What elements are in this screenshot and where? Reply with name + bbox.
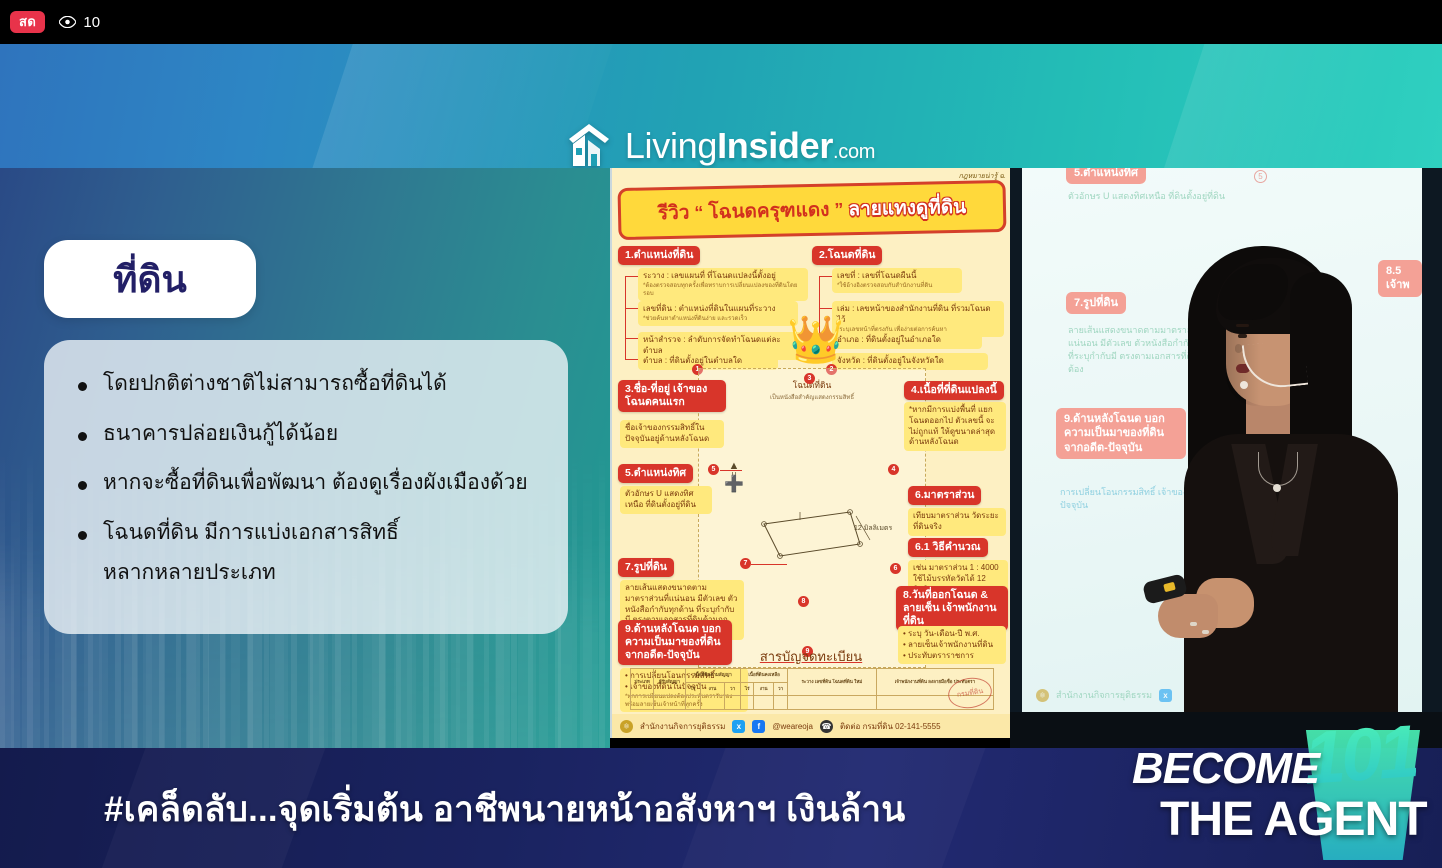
banner-headline: #เคล็ดลับ...จุดเริ่มต้น อาชีพนายหน้าอสัง… <box>104 782 905 837</box>
connector-line <box>626 359 638 360</box>
presenter-hand-left <box>1158 594 1218 638</box>
video-stage: ที่ดิน โดยปกติต่างชาติไม่สามารถซื้อที่ดิ… <box>0 168 1442 748</box>
connector-line <box>820 276 832 277</box>
table-subheader-cell: ไร่ <box>741 682 754 696</box>
poster-footer: ⚛ สำนักงานกิจการยุติธรรม x f @weareoja ☎… <box>612 714 1010 738</box>
poster-section-7-head: 7.รูปที่ดิน <box>618 558 674 577</box>
poster-title-post: ลายแทงดูที่ดิน <box>848 192 966 224</box>
poster-section-1-item-1: เลขที่ดิน : ตำแหน่งที่ดินในแผนที่ระวาง *… <box>638 301 798 326</box>
registry-title-text: สารบัญจดทะเบียน <box>760 649 862 664</box>
presenter-pendant <box>1273 484 1281 492</box>
projection-section-5-head: 5.ตำแหน่งทิศ <box>1066 168 1146 184</box>
table-header-cell: ระวาง เลขที่ดิน โฉนดที่ดิน ใหม่ <box>787 669 876 696</box>
poster-section-8-head: 8.วันที่ออกโฉนด & ลายเซ็น เจ้าพนักงานที่… <box>896 586 1008 631</box>
viewer-count-value: 10 <box>83 14 100 31</box>
brand-wordmark: LivingInsider.com <box>625 125 875 167</box>
poster-title-pre: รีวิว <box>658 198 690 229</box>
projection-section-5-body: ตัวอักษร U แสดงทิศเหนือ ที่ดินตั้งอยู่ที… <box>1068 190 1225 203</box>
oja-seal-icon: ⚛ <box>620 720 633 733</box>
presenter-ring <box>1202 630 1209 634</box>
presenter-ring <box>1190 622 1197 626</box>
bullet-dot-icon <box>78 432 87 441</box>
bullet-text: หากจะซื้อที่ดินเพื่อพัฒนา ต้องดูเรื่องผั… <box>103 469 528 497</box>
item-note: *ใช้อ้างอิงตรวจสอบกับสำนักงานที่ดิน <box>837 282 957 290</box>
list-item: หากจะซื้อที่ดินเพื่อพัฒนา ต้องดูเรื่องผั… <box>78 469 534 497</box>
poster-section-2-item-0: เลขที่ : เลขที่โฉนดผืนนี้ *ใช้อ้างอิงตรว… <box>832 268 962 293</box>
brand-living: Living <box>625 125 717 166</box>
table-header-cell: ประเภท <box>631 669 654 696</box>
live-status-bar: สด 10 <box>0 0 1442 44</box>
projection-marker-5: 5 <box>1254 170 1267 183</box>
connector-line <box>626 338 638 339</box>
table-subheader-cell: งาน <box>701 682 725 696</box>
poster-footer-org: สำนักงานกิจการยุติธรรม <box>640 720 725 733</box>
item-text: ระวาง : เลขแผนที่ ที่โฉนดแปลงนี้ตั้งอยู่ <box>643 271 776 280</box>
table-cell <box>774 696 788 710</box>
quote-close: ” <box>834 199 843 220</box>
livestream-screen: สด 10 LivingInsider.com <box>0 0 1442 868</box>
table-header-cell: เนื้อที่ดินตามสัญญา <box>685 669 741 683</box>
bullet-dot-icon <box>78 382 87 391</box>
marker-6-1: 6 <box>890 563 901 574</box>
poster-footer-handle: @weareoja <box>772 722 813 731</box>
infographic-poster: กฎหมายน่ารู้ ฉ. รีวิว “ โฉนดครุฑแดง ” ลา… <box>610 168 1010 738</box>
table-subheader-cell: ไร่ <box>685 682 700 696</box>
page-title: ที่ดิน <box>113 261 187 298</box>
marker-7: 7 <box>740 558 751 569</box>
projection-section-7-head: 7.รูปที่ดิน <box>1066 292 1126 314</box>
projection-footer-org: สำนักงานกิจการยุติธรรม <box>1056 688 1152 702</box>
marker-8: 8 <box>798 596 809 607</box>
bullet-text: โฉนดที่ดิน มีการแบ่งเอกสารสิทธิ์ <box>103 519 399 547</box>
house-logo-icon <box>567 122 611 168</box>
table-subheader-cell: งาน <box>754 682 774 696</box>
bullet-text: ธนาคารปล่อยเงินกู้ได้น้อย <box>103 420 338 448</box>
facebook-icon: f <box>752 720 765 733</box>
list-item: โดยปกติต่างชาติไม่สามารถซื้อที่ดินได้ <box>78 370 534 398</box>
presenter-speaker <box>1140 238 1440 748</box>
compass-indicator: ▲ U ➕ <box>722 460 746 516</box>
brand-tld: .com <box>833 141 875 163</box>
item-text: ตำบล : ที่ดินตั้งอยู่ในตำบลใด <box>643 356 742 365</box>
connector-line <box>626 276 638 277</box>
bullet-text-continuation: หลากหลายประเภท <box>103 559 534 587</box>
plot-dimension-label: 12 มิลลิเมตร <box>854 523 892 534</box>
table-cell <box>654 696 685 710</box>
item-text: เลขที่ดิน : ตำแหน่งที่ดินในแผนที่ระวาง <box>643 304 776 313</box>
item-text: อำเภอ : ที่ดินตั้งอยู่ในอำเภอใด <box>837 335 941 344</box>
poster-section-1-head: 1.ตำแหน่งที่ดิน <box>618 246 700 265</box>
bullet-dot-icon <box>78 481 87 490</box>
item-text: หน้าสำรวจ : ลำดับการจัดทำโฉนดแต่ละตำบล <box>643 335 781 355</box>
poster-section-2-item-2: อำเภอ : ที่ดินตั้งอยู่ในอำเภอใด <box>832 332 982 349</box>
connector-line-vertical <box>625 276 626 360</box>
garuda-emblem-icon: 👑 <box>787 316 839 374</box>
brand-logo: LivingInsider.com <box>0 122 1442 168</box>
poster-section-5-head: 5.ตำแหน่งทิศ <box>618 464 693 483</box>
table-header-row: ประเภท ผู้รับสัญญา เนื้อที่ดินตามสัญญา เ… <box>631 669 994 683</box>
table-cell <box>724 696 740 710</box>
table-cell <box>787 696 876 710</box>
phone-icon: ☎ <box>820 720 833 733</box>
poster-footer-contact: ติดต่อ กรมที่ดิน 02-141-5555 <box>840 720 941 733</box>
viewer-count: 10 <box>59 14 100 31</box>
table-header-cell: เนื้อที่ดินคงเหลือ <box>741 669 788 683</box>
table-cell <box>701 696 725 710</box>
poster-section-3-body: ชื่อเจ้าของกรรมสิทธิ์ใน ปัจจุบันอยู่ด้าน… <box>620 420 724 448</box>
item-note: *ต้องตรวจสอบทุกครั้งเพื่อทราบการเปลี่ยนแ… <box>643 282 803 298</box>
eye-icon <box>59 16 76 28</box>
poster-title-banner: รีวิว “ โฉนดครุฑแดง ” ลายแทงดูที่ดิน <box>617 180 1006 240</box>
poster-section-4-body: *หากมีการแบ่งพื้นที่ แยกโฉนดออกไป ตัวเลข… <box>904 402 1006 451</box>
marker-4: 4 <box>888 464 899 475</box>
slide-title-pill: ที่ดิน <box>44 240 256 318</box>
connector-line <box>820 308 832 309</box>
live-badge: สด <box>10 11 45 33</box>
table-cell <box>631 696 654 710</box>
brand-line-1: BECOME <box>1132 744 1319 794</box>
presenter-eye <box>1238 334 1247 338</box>
bullet-dot-icon <box>78 531 87 540</box>
poster-section-6-body: เทียบมาตราส่วน วัดระยะที่ดินจริง <box>908 508 1006 536</box>
poster-section-6-1-head: 6.1 วิธีคำนวณ <box>908 538 988 557</box>
oja-seal-icon: ⚛ <box>1036 689 1049 702</box>
bullet-text: โดยปกติต่างชาติไม่สามารถซื้อที่ดินได้ <box>103 370 447 398</box>
item-text: ระบุ วัน-เดือน-ปี พ.ศ. <box>908 629 979 638</box>
registry-table: ประเภท ผู้รับสัญญา เนื้อที่ดินตามสัญญา เ… <box>630 668 994 710</box>
garuda-caption-sub: เป็นหนังสือสำคัญแสดงกรรมสิทธิ์ <box>762 392 862 402</box>
poster-section-4-head: 4.เนื้อที่ที่ดินแปลงนี้ <box>904 381 1004 400</box>
brand-line-2: THE AGENT <box>1160 792 1427 847</box>
mic-tip-icon <box>1240 381 1248 389</box>
brand-header: LivingInsider.com <box>0 44 1442 168</box>
marker-5: 5 <box>708 464 719 475</box>
registry-title: สารบัญจดทะเบียน <box>612 646 1010 667</box>
poster-section-6-head: 6.มาตราส่วน <box>908 486 981 505</box>
quote-open: “ <box>694 202 703 223</box>
room-view: 5.ตำแหน่งทิศ ตัวอักษร U แสดงทิศเหนือ ที่… <box>1010 168 1442 748</box>
poster-section-1-item-0: ระวาง : เลขแผนที่ ที่โฉนดแปลงนี้ตั้งอยู่… <box>638 268 808 301</box>
slide-bullet-card: โดยปกติต่างชาติไม่สามารถซื้อที่ดินได้ ธน… <box>44 340 568 634</box>
poster-title-quoted: โฉนดครุฑแดง <box>708 195 830 228</box>
connector-line <box>751 564 787 565</box>
presenter-eyebrow <box>1236 324 1249 327</box>
item-note: *ช่วยค้นหาตำแหน่งที่ดินง่าย และรวดเร็ว <box>643 315 793 323</box>
slide-panel: ที่ดิน โดยปกติต่างชาติไม่สามารถซื้อที่ดิ… <box>0 168 610 748</box>
twitter-icon: x <box>732 720 745 733</box>
show-brand-block: 101 BECOME THE AGENT <box>1128 726 1442 868</box>
list-item: โฉนดที่ดิน มีการแบ่งเอกสารสิทธิ์ <box>78 519 534 547</box>
table-cell <box>754 696 774 710</box>
item-text: เล่ม : เลขหน้าของสำนักงานที่ดิน ที่รวมโฉ… <box>837 304 991 324</box>
brand-insider: Insider <box>717 125 833 166</box>
land-plot-drawing <box>760 506 878 566</box>
table-subheader-cell: วา <box>724 682 740 696</box>
poster-section-2-head: 2.โฉนดที่ดิน <box>812 246 882 265</box>
poster-section-5-body: ตัวอักษร U แสดงทิศเหนือ ที่ดินตั้งอยู่ที… <box>620 486 712 514</box>
item-text: จังหวัด : ที่ดินตั้งอยู่ในจังหวัดใด <box>837 356 944 365</box>
marker-3: 3 <box>804 373 815 384</box>
list-item: ธนาคารปล่อยเงินกู้ได้น้อย <box>78 420 534 448</box>
poster-section-3-head: 3.ชื่อ-ที่อยู่ เจ้าของโฉนดคนแรก <box>618 380 726 412</box>
table-subheader-cell: วา <box>774 682 788 696</box>
table-row <box>631 696 994 710</box>
table-cell <box>685 696 700 710</box>
connector-line <box>626 308 638 309</box>
item-text: เลขที่ : เลขที่โฉนดผืนนี้ <box>837 271 916 280</box>
table-cell <box>741 696 754 710</box>
table-header-cell: ผู้รับสัญญา <box>654 669 685 696</box>
